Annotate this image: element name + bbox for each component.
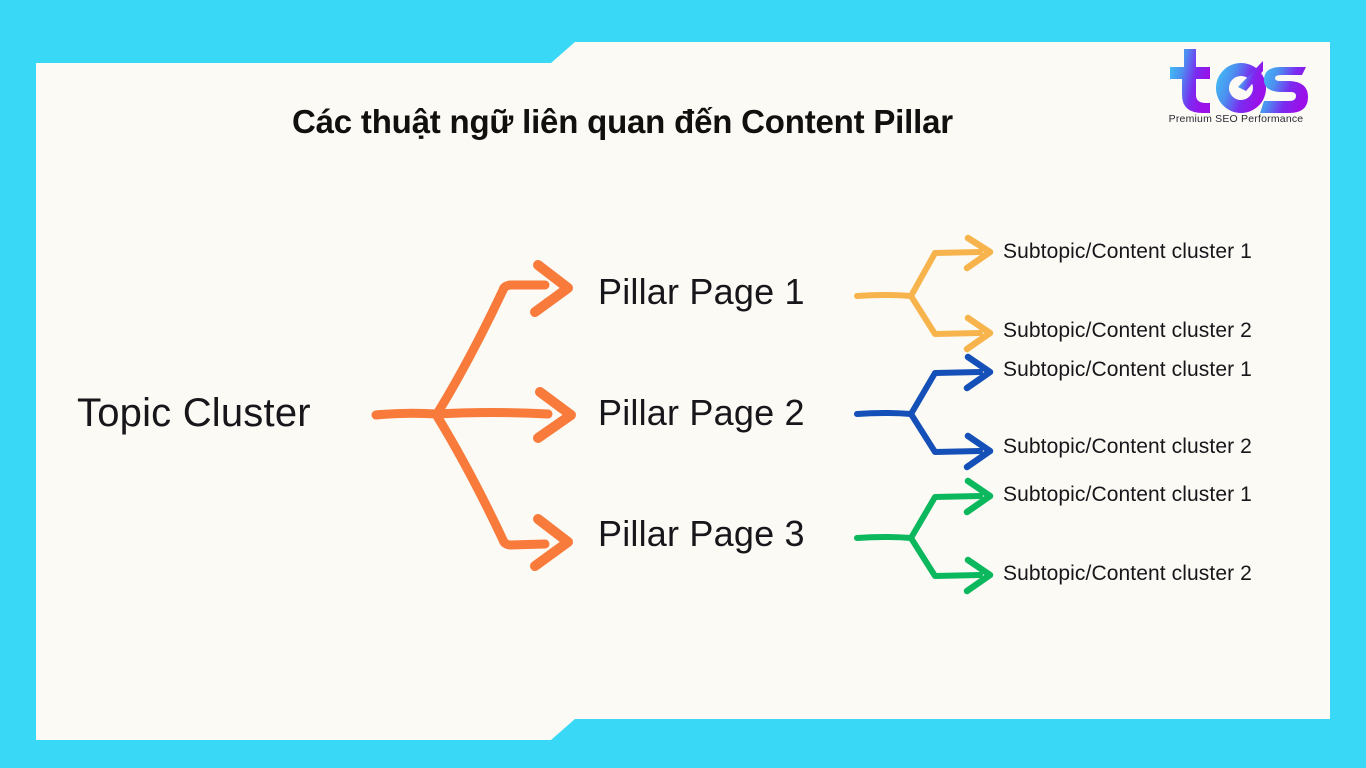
node-subtopic-2-2: Subtopic/Content cluster 2 — [1003, 435, 1252, 459]
tos-logo-icon — [1160, 47, 1312, 115]
slide-canvas: Các thuật ngữ liên quan đến Content Pill… — [0, 0, 1366, 768]
node-pillar-page-1: Pillar Page 1 — [598, 271, 805, 313]
logo-tagline: Premium SEO Performance — [1152, 113, 1320, 125]
node-subtopic-3-2: Subtopic/Content cluster 2 — [1003, 562, 1252, 586]
node-topic-cluster: Topic Cluster — [77, 391, 311, 436]
node-pillar-page-3: Pillar Page 3 — [598, 513, 805, 555]
page-title: Các thuật ngữ liên quan đến Content Pill… — [292, 103, 1112, 141]
node-subtopic-2-1: Subtopic/Content cluster 1 — [1003, 358, 1252, 382]
node-subtopic-1-2: Subtopic/Content cluster 2 — [1003, 319, 1252, 343]
node-subtopic-1-1: Subtopic/Content cluster 1 — [1003, 240, 1252, 264]
brand-logo: Premium SEO Performance — [1152, 47, 1320, 137]
node-subtopic-3-1: Subtopic/Content cluster 1 — [1003, 483, 1252, 507]
node-pillar-page-2: Pillar Page 2 — [598, 392, 805, 434]
